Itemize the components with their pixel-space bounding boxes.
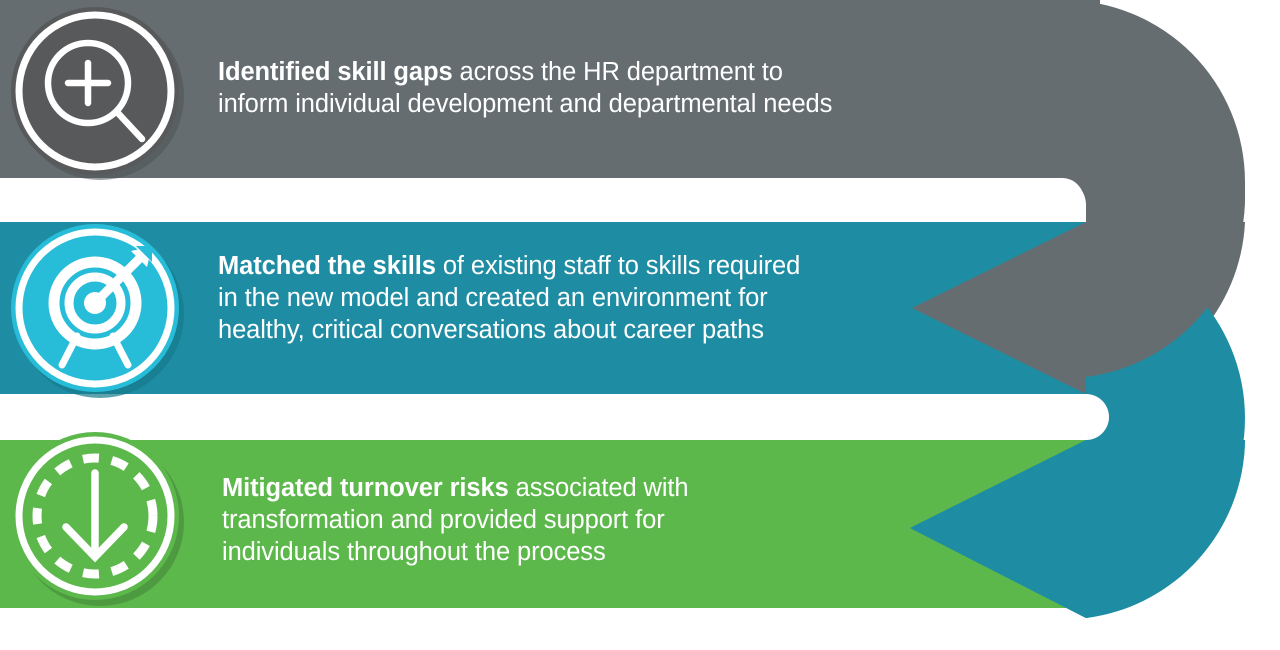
infographic-canvas: Identified skill gaps across the HR depa… [0,0,1280,650]
row-1-text-bold: Identified skill gaps [218,58,453,86]
teal-notch-white-2 [0,394,1085,440]
row-2-text-bold: Matched the skills [218,252,436,280]
row-3-text: Mitigated turnover risks associated with… [222,472,882,568]
gray-notch-white-2 [0,178,1084,222]
row-3-text-bold: Mitigated turnover risks [222,474,509,502]
row-2-text: Matched the skills of existing staff to … [218,250,978,346]
icon1-disc [11,7,179,175]
row-1-text: Identified skill gaps across the HR depa… [218,56,998,120]
